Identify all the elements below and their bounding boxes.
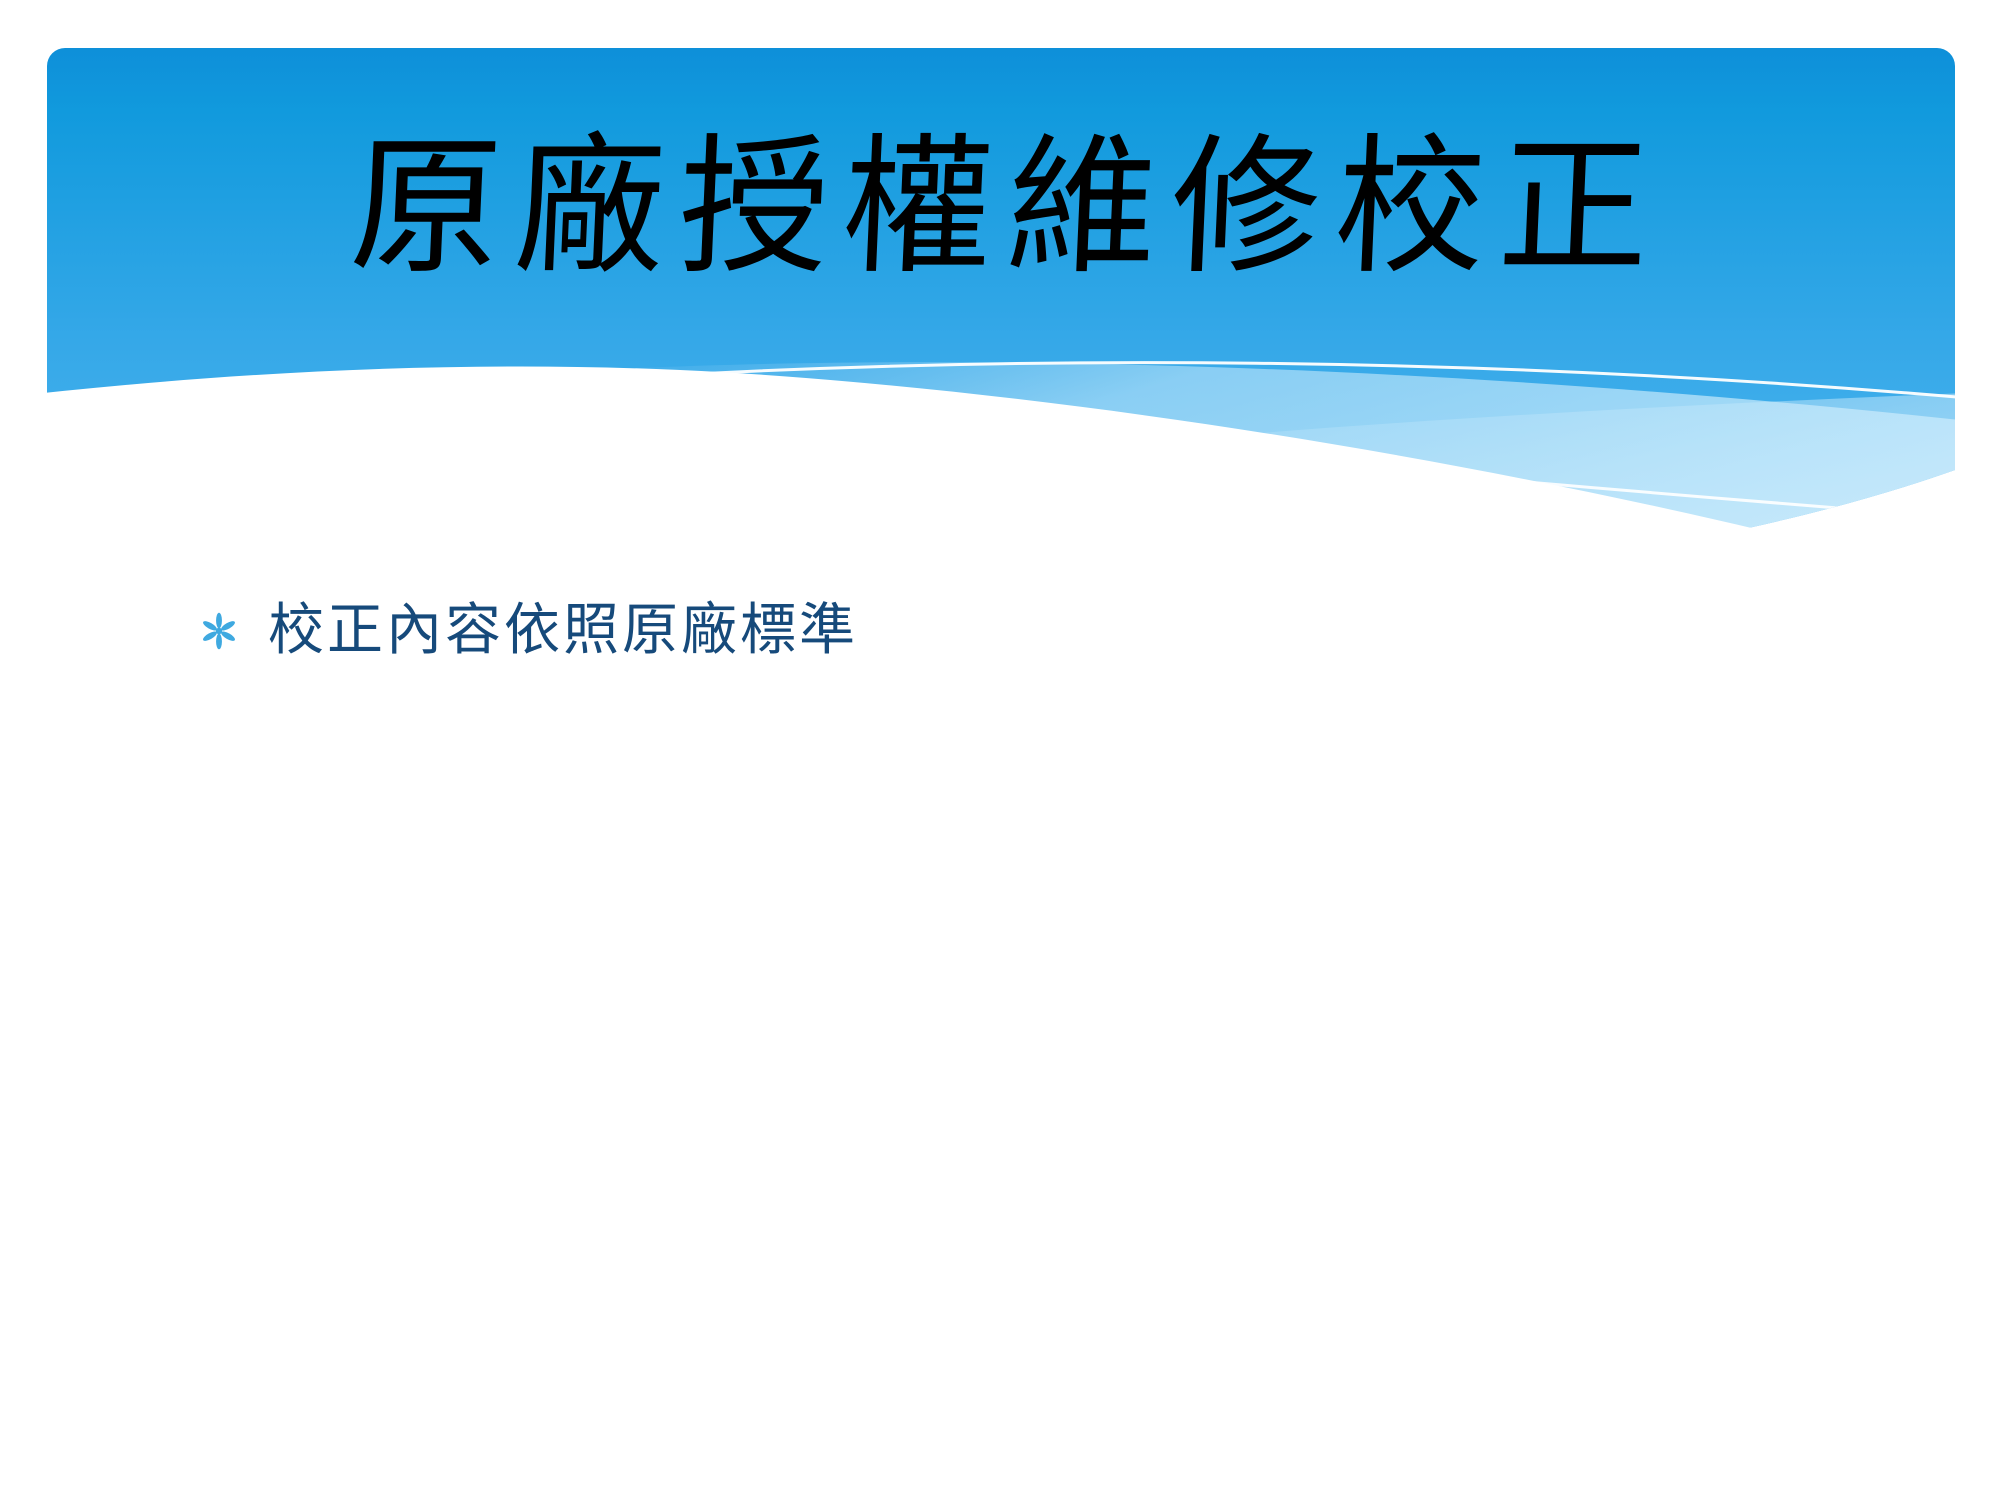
asterisk-bullet-icon bbox=[200, 596, 246, 666]
banner-curve-line-a bbox=[560, 363, 1990, 400]
page-title: 原廠授權維修校正 bbox=[333, 120, 1667, 297]
title-placeholder: 原廠授權維修校正 bbox=[0, 120, 2000, 297]
banner-light-band-lower bbox=[900, 392, 1990, 620]
banner-light-band-upper bbox=[560, 362, 1960, 620]
content-placeholder: 校正內容依照原廠標準 bbox=[200, 596, 1900, 682]
banner-gradient-shape bbox=[0, 0, 2000, 620]
list-item-label: 校正內容依照原廠標準 bbox=[268, 596, 858, 666]
presentation-slide: 原廠授權維修校正 校正內容依照原廠標準 bbox=[0, 0, 2000, 1500]
banner-curve-line-b bbox=[640, 398, 1990, 520]
header-banner-decoration bbox=[0, 0, 2000, 620]
list-item: 校正內容依照原廠標準 bbox=[200, 596, 1900, 666]
banner-white-wave bbox=[0, 367, 2000, 620]
